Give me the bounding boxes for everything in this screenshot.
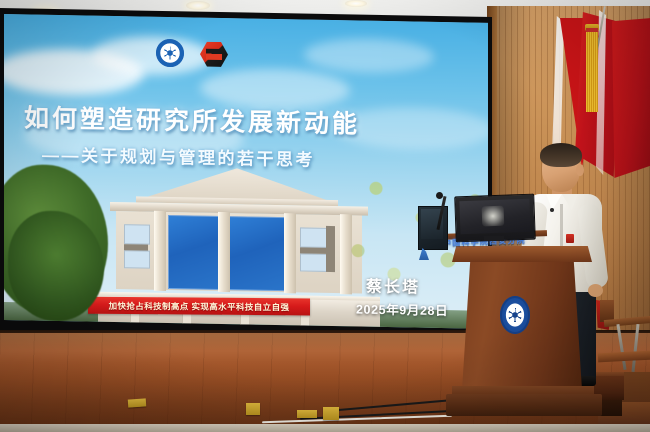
ceiling-downlight-icon — [186, 1, 210, 10]
cas-emblem-icon — [500, 296, 530, 334]
microphone-head-icon — [436, 192, 443, 199]
building-red-banner: 加快抢占科技制高点 实现高水平科技自立自强 — [88, 297, 310, 316]
monitor-glow — [482, 206, 505, 227]
projection-screen[interactable]: 加快抢占科技制高点 实现高水平科技自立自强 如何塑造研究所发展新动能 ——关于规… — [4, 14, 488, 329]
gaffer-tape — [323, 407, 339, 420]
building-column — [284, 213, 296, 293]
presenter-hair — [540, 143, 582, 167]
building-column — [154, 211, 166, 291]
slide-date: 2025年9月28日 — [356, 298, 448, 319]
podium-top — [452, 246, 592, 262]
slide-speaker-name: 蔡长塔 — [366, 273, 420, 298]
building-window — [124, 224, 150, 244]
building-column — [218, 212, 230, 292]
glass-curtain-wall — [226, 216, 286, 291]
gaffer-tape — [246, 403, 260, 415]
slide-logo-group — [156, 39, 242, 71]
podium-base — [446, 394, 602, 416]
gaffer-tape — [128, 398, 147, 407]
red-flag-right — [612, 18, 650, 178]
building-window — [124, 250, 150, 268]
glass-curtain-wall — [168, 215, 220, 290]
gaffer-tape — [297, 410, 317, 418]
banner-text: 加快抢占科技制高点 实现高水平科技自立自强 — [109, 299, 290, 312]
lapel-microphone-icon — [550, 208, 554, 212]
red-hexagon-logo-icon — [200, 41, 228, 69]
stage-apron — [0, 424, 650, 432]
presenter-ear — [576, 164, 584, 176]
slide-title: 如何塑造研究所发展新动能 — [24, 98, 444, 142]
gold-tassel — [586, 28, 598, 112]
auditorium-photo: 加快抢占科技制高点 实现高水平科技自立自强 如何塑造研究所发展新动能 ——关于规… — [0, 0, 650, 432]
monitor-stand — [484, 236, 504, 241]
presenter-hand-right — [588, 284, 603, 297]
ceiling-downlight-icon — [345, 0, 367, 7]
cas-circular-logo-icon — [156, 39, 184, 68]
building-shadow-band — [124, 244, 148, 250]
lapel-badge-icon — [566, 234, 574, 243]
